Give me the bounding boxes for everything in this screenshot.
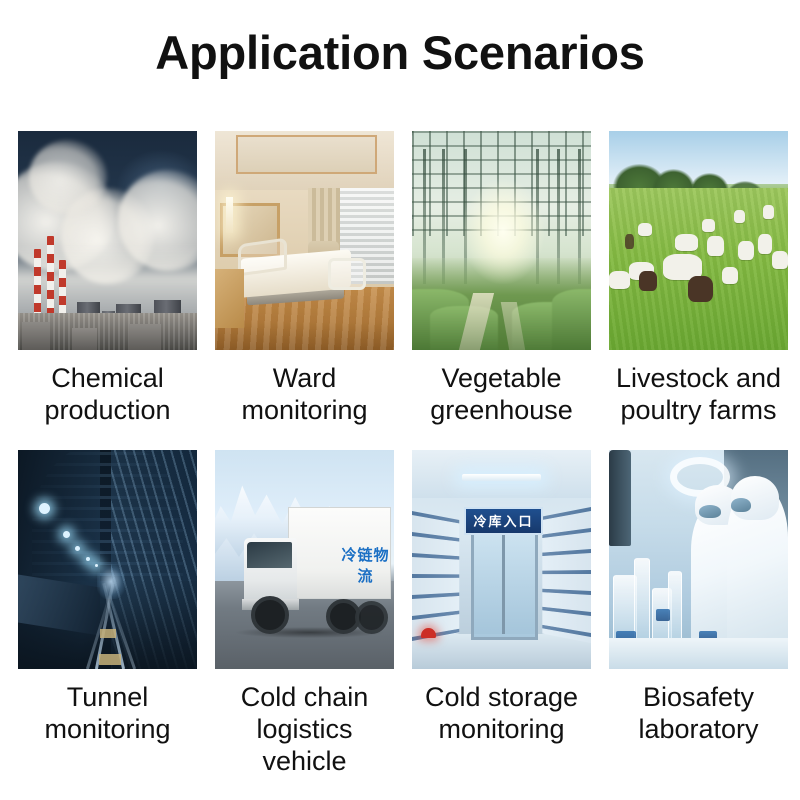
crop-row [552,289,591,350]
cow-icon [609,271,630,289]
scenario-card-chemical-production[interactable]: Chemical production [18,131,197,450]
cow-icon [758,234,772,254]
scenario-label-biosafety-laboratory: Biosafety laboratory [609,681,788,769]
scenario-label-livestock-and-poultry-farms: Livestock and poultry farms [609,362,788,450]
label-line-1: Tunnel [18,681,197,713]
truck-wheel [251,596,289,634]
truck-wheel [355,601,388,634]
city-building [22,322,51,350]
vanishing-point-glow [97,564,126,599]
scenario-image-cold-storage-monitoring[interactable]: 冷库入口 [412,450,591,669]
alarm-beacon-icon [421,628,436,638]
cow-icon [722,267,738,285]
label-line-2: laboratory [609,713,788,745]
ceiling-light-icon [462,474,541,481]
wall-lamp-icon [226,197,233,233]
entrance-sign: 冷库入口 [464,507,543,535]
smoke-plume-icon [29,140,108,214]
biosafety-lab-scene [609,450,788,669]
tunnel-light-icon [63,531,70,538]
scenario-label-chemical-production: Chemical production [18,362,197,450]
label-line-2: greenhouse [412,394,591,426]
sun-glare [462,179,544,284]
lab-bench [609,638,788,669]
scenario-card-cold-storage-monitoring[interactable]: 冷库入口 Cold storage monitoring [412,450,591,769]
calf-icon [625,234,634,249]
cow-icon [734,210,745,223]
label-line-2: production [18,394,197,426]
label-line-1: Ward [215,362,394,394]
microscope-icon [609,450,631,546]
scenario-card-ward-monitoring[interactable]: Ward monitoring [215,131,394,450]
cow-icon [638,223,652,236]
greenhouse-scene [412,131,591,350]
suit-visor [699,505,721,518]
cow-icon [707,236,723,256]
scenario-card-vegetable-greenhouse[interactable]: Vegetable greenhouse [412,131,591,450]
label-line-2: logistics vehicle [215,713,394,777]
cold-storage-scene: 冷库入口 [412,450,591,669]
scenario-label-vegetable-greenhouse: Vegetable greenhouse [412,362,591,450]
label-line-2: monitoring [18,713,197,745]
ward-scene [215,131,394,350]
door-divider [502,531,505,634]
scenario-label-cold-chain-logistics-vehicle: Cold chain logistics vehicle [215,681,394,769]
bed-footrail [328,258,366,290]
label-line-1: Cold storage [412,681,591,713]
scenario-image-tunnel-monitoring[interactable] [18,450,197,669]
suit-visor [731,498,751,512]
label-line-1: Chemical [18,362,197,394]
scenario-image-livestock-and-poultry-farms[interactable] [609,131,788,350]
cow-icon [763,205,774,218]
scenario-card-tunnel-monitoring[interactable]: Tunnel monitoring [18,450,197,769]
shelving-right [542,507,591,643]
entrance-sign-text: 冷库入口 [473,511,533,530]
truck-body-text: 冷链物流 [339,544,391,586]
chemical-scene [18,131,197,350]
livestock-scene [609,131,788,350]
label-line-2: monitoring [412,713,591,745]
label-line-2: monitoring [215,394,394,426]
shelving-left [412,511,459,642]
refrigerated-container: 冷链物流 [288,507,390,599]
ceiling-inset [236,135,376,174]
label-line-2: poultry farms [609,394,788,426]
scenario-card-livestock-and-poultry-farms[interactable]: Livestock and poultry farms [609,131,788,450]
application-scenarios-page: Application Scenarios [0,0,800,800]
city-building [129,324,161,350]
tunnel-scene [18,450,197,669]
floor-marker [99,654,121,665]
label-line-1: Vegetable [412,362,591,394]
label-line-1: Cold chain [215,681,394,713]
scenario-card-biosafety-laboratory[interactable]: Biosafety laboratory [609,450,788,769]
scenario-image-chemical-production[interactable] [18,131,197,350]
calf-icon [688,276,713,302]
label-line-1: Biosafety [609,681,788,713]
scenario-image-vegetable-greenhouse[interactable] [412,131,591,350]
cow-icon [772,251,788,269]
bed-headrail [238,237,287,276]
scenario-image-biosafety-laboratory[interactable] [609,450,788,669]
scenario-label-cold-storage-monitoring: Cold storage monitoring [412,681,591,769]
scenario-label-ward-monitoring: Ward monitoring [215,362,394,450]
bedside-cabinet [215,269,244,328]
floor-marker [100,629,116,638]
cow-icon [675,234,698,252]
scenario-image-cold-chain-logistics-vehicle[interactable]: 冷链物流 [215,450,394,669]
scenario-label-tunnel-monitoring: Tunnel monitoring [18,681,197,769]
cow-icon [738,241,754,261]
cow-icon [702,219,715,232]
label-line-1: Livestock and [609,362,788,394]
scenario-card-cold-chain-logistics-vehicle[interactable]: 冷链物流 Cold chain logistics vehicle [215,450,394,769]
truck-windshield [247,542,292,568]
page-title: Application Scenarios [0,26,800,80]
tunnel-light-icon [39,503,50,514]
city-building [72,328,97,350]
calf-icon [639,271,657,291]
scenario-grid: Chemical production [18,131,790,769]
scenario-image-ward-monitoring[interactable] [215,131,394,350]
reagent-box [656,609,670,621]
cold-chain-scene: 冷链物流 [215,450,394,669]
